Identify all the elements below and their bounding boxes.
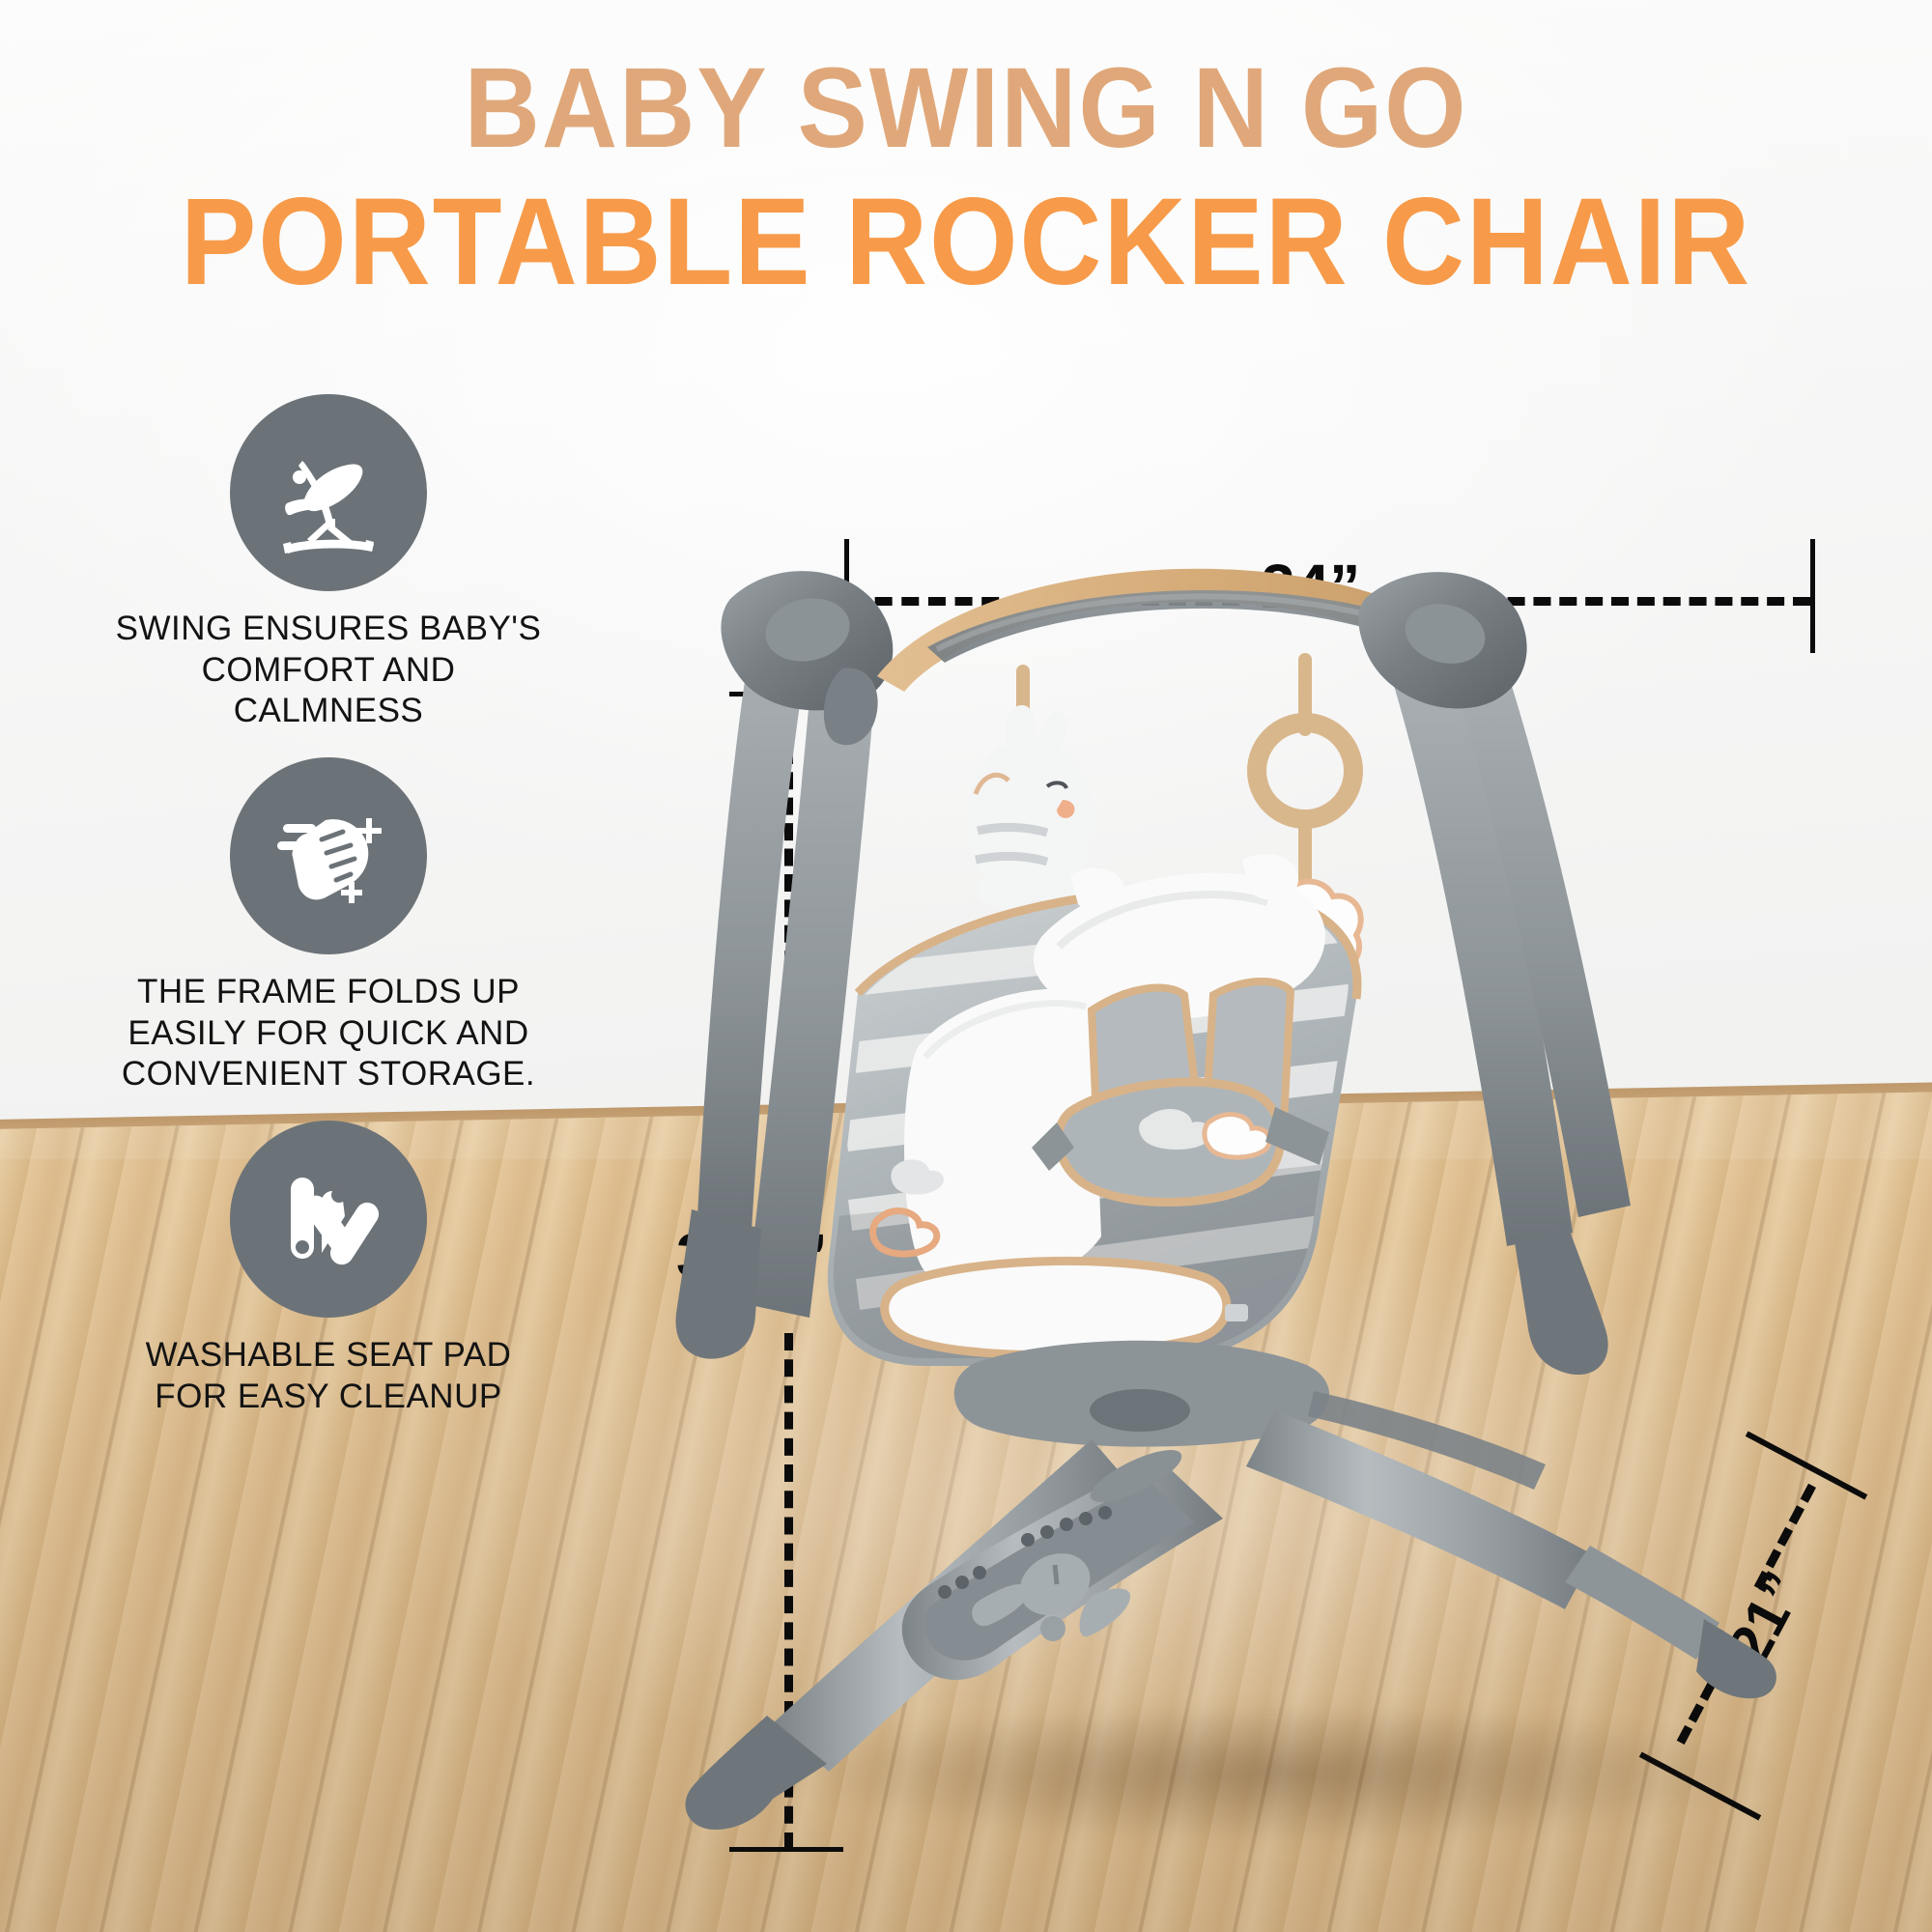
rocker-chair-icon [230, 394, 427, 591]
feature-item-washable: WASHABLE SEAT PAD FOR EASY CLEANUP [58, 1121, 599, 1417]
washing-hands-icon [230, 757, 427, 954]
page-title: BABY SWING N GO PORTABLE ROCKER CHAIR [0, 50, 1932, 306]
feature-text: WASHABLE SEAT PAD FOR EASY CLEANUP [58, 1335, 599, 1417]
title-line-1: BABY SWING N GO [77, 50, 1855, 166]
feature-item-swing: SWING ENSURES BABY'S COMFORT AND CALMNES… [58, 394, 599, 732]
feature-text: THE FRAME FOLDS UP EASILY FOR QUICK AND … [58, 972, 599, 1095]
feature-text: SWING ENSURES BABY'S COMFORT AND CALMNES… [58, 609, 599, 732]
feature-list: SWING ENSURES BABY'S COMFORT AND CALMNES… [58, 394, 599, 1443]
feature-item-folding: THE FRAME FOLDS UP EASILY FOR QUICK AND … [58, 757, 599, 1095]
product-infographic: BABY SWING N GO PORTABLE ROCKER CHAIR [0, 0, 1932, 1932]
folding-frame-icon [230, 1121, 427, 1318]
product-image-baby-swing [638, 541, 1893, 1893]
title-line-2: PORTABLE ROCKER CHAIR [77, 180, 1855, 306]
